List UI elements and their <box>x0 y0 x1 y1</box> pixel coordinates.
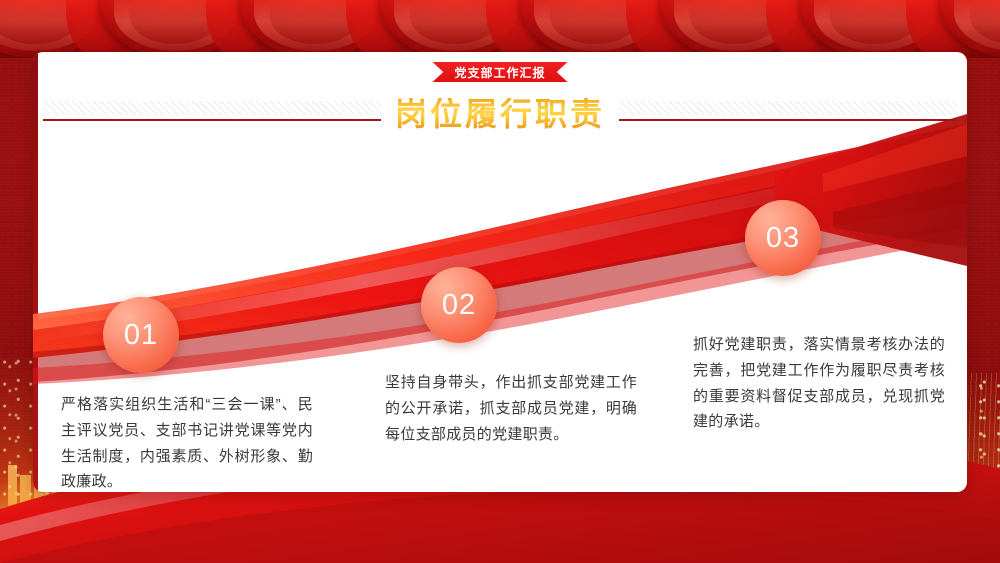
hatch-pattern <box>43 101 381 115</box>
title-rule-left <box>33 99 381 129</box>
rule-line <box>43 119 381 121</box>
step-text-03: 抓好党建职责，落实情景考核办法的完善，把党建工作作为履职尽责考核的重要资料督促支… <box>693 332 945 435</box>
curtain-valance <box>0 0 1000 58</box>
hatch-pattern <box>619 101 957 115</box>
title-rule-right <box>619 99 967 129</box>
step-text-01: 严格落实组织生活和“三会一课”、民主评议党员、支部书记讲党课等党内生活制度，内强… <box>61 392 313 492</box>
title-row: 岗位履行职责 <box>33 90 967 138</box>
page-title: 岗位履行职责 <box>381 98 619 130</box>
step-text-02: 坚持自身带头，作出抓支部党建工作的公开承诺，抓支部成员党建，明确每位支部成员的党… <box>385 370 637 447</box>
step-marker-03[interactable]: 03 <box>745 200 821 276</box>
ribbon-banner: 党支部工作汇报 <box>432 62 567 82</box>
step-marker-02[interactable]: 02 <box>421 267 497 343</box>
content-card: 党支部工作汇报 岗位履行职责 01 02 03 严格落实组织生活和“三会一课”、… <box>33 52 967 492</box>
rule-line <box>619 119 957 121</box>
step-marker-01[interactable]: 01 <box>103 297 179 373</box>
slide-root: 党支部工作汇报 岗位履行职责 01 02 03 严格落实组织生活和“三会一课”、… <box>0 0 1000 563</box>
